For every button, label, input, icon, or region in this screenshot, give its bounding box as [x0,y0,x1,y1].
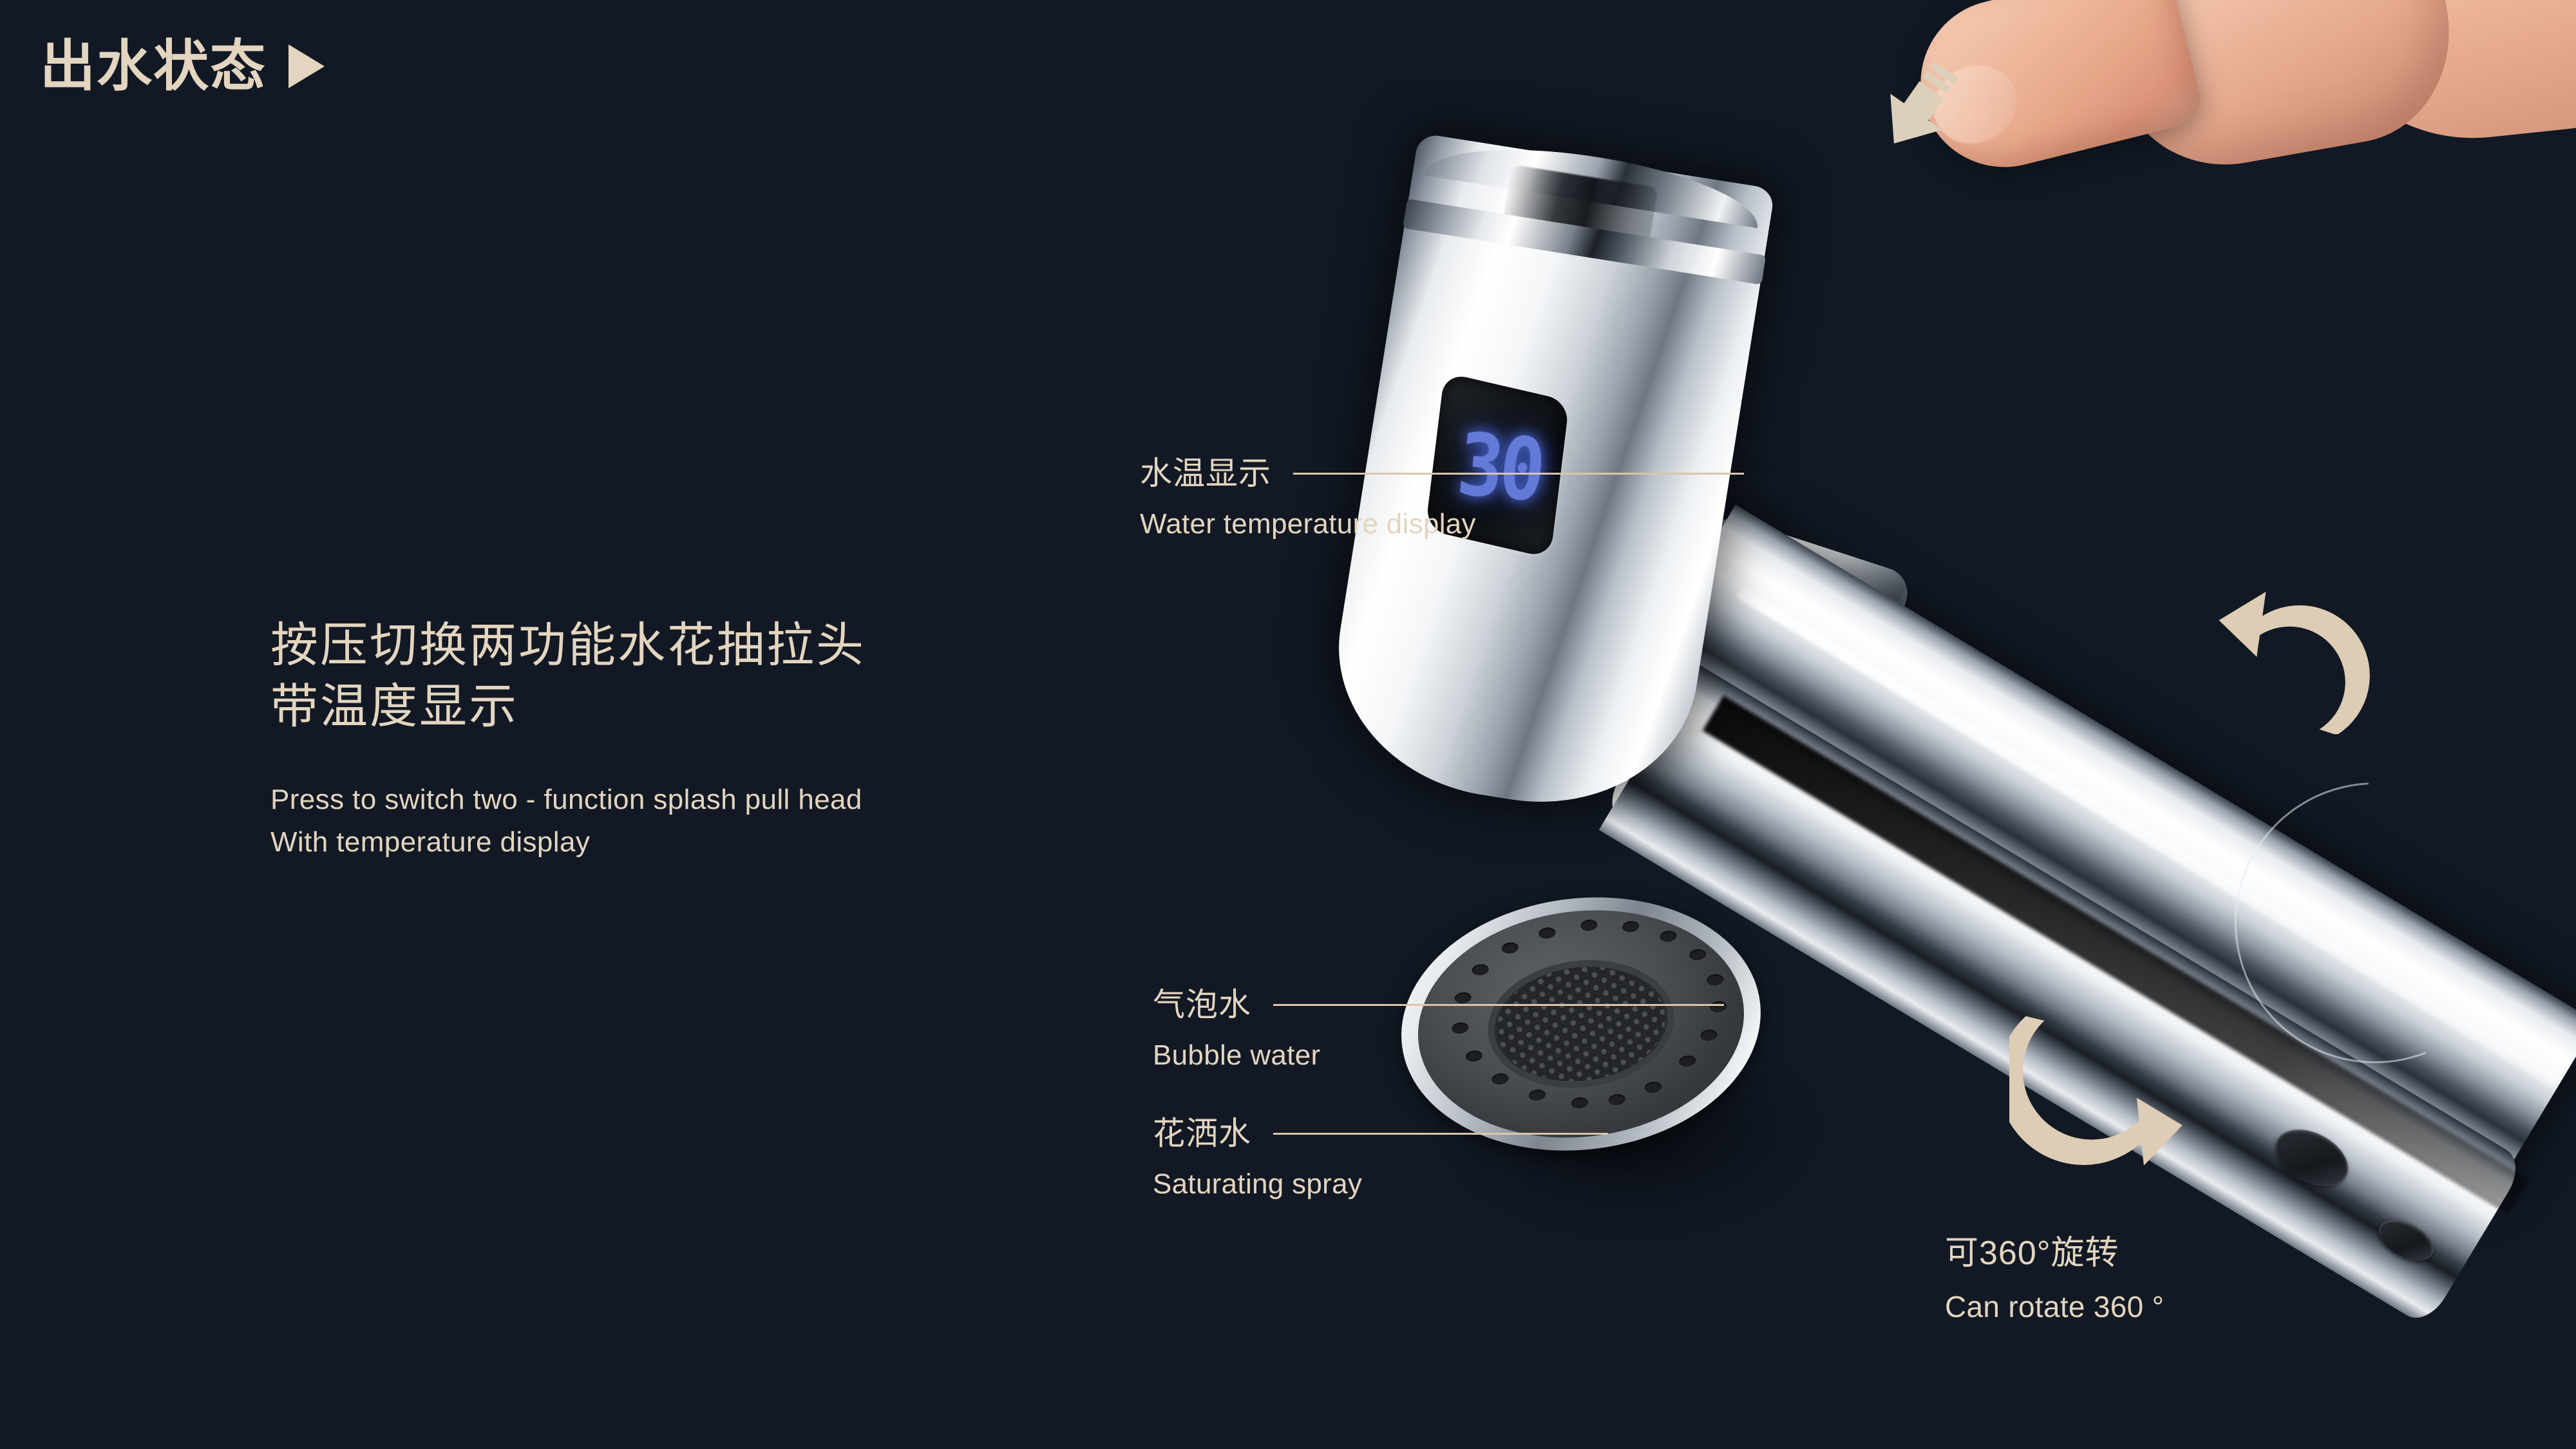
page-title: 出水状态 [40,39,267,94]
callout-en-label: Water temperature display [1140,510,1744,538]
callout-cn-label: 可360°旋转 [1945,1236,2164,1270]
rotate-counterclockwise-arrow-icon [2209,583,2370,734]
callout-rotate-360: 可360°旋转 Can rotate 360 ° [1945,1236,2164,1321]
headline-cn-line2: 带温度显示 [270,676,866,737]
callout-cn-label: 水温显示 [1140,457,1271,489]
callout-en-label: Saturating spray [1153,1170,1608,1198]
callout-bubble-water: 气泡水 Bubble water [1153,989,1724,1070]
headline-cn-line1: 按压切换两功能水花抽拉头 [270,615,866,676]
infographic-canvas: 30 [0,0,2576,1449]
leader-line [1293,473,1744,475]
leader-line [1273,1133,1608,1135]
callout-en-label: Can rotate 360 ° [1945,1292,2164,1321]
press-down-arrow-icon [1871,61,1967,155]
callout-water-temperature-display: 水温显示 Water temperature display [1140,457,1744,538]
callout-saturating-spray: 花洒水 Saturating spray [1153,1117,1608,1198]
headline-en-line2: With temperature display [270,823,866,862]
play-triangle-icon [289,44,325,88]
callout-en-label: Bubble water [1153,1041,1724,1070]
headline-block: 按压切换两功能水花抽拉头 带温度显示 Press to switch two -… [270,615,866,862]
rotate-clockwise-arrow-icon [2009,1001,2183,1172]
callout-cn-label: 气泡水 [1153,989,1251,1021]
leader-line [1273,1004,1724,1006]
headline-en-line1: Press to switch two - function splash pu… [270,781,866,819]
pressing-finger-image [1919,0,2576,277]
page-header: 出水状态 [40,39,325,94]
callout-cn-label: 花洒水 [1153,1117,1251,1150]
